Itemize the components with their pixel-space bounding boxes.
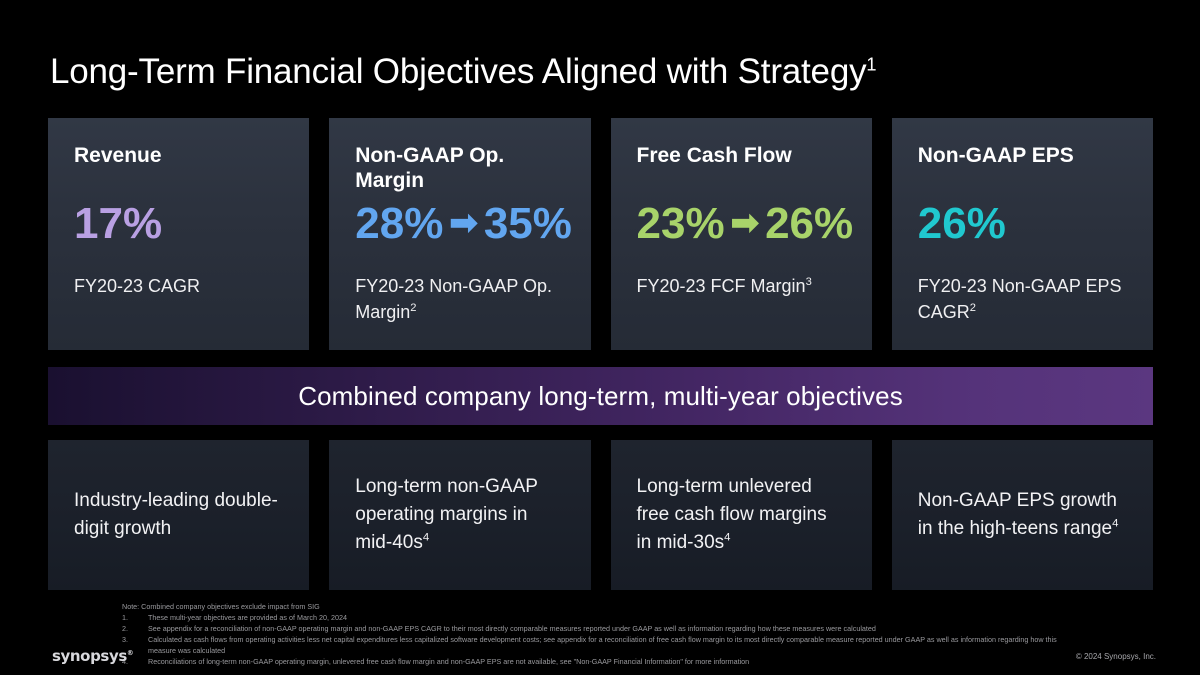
metric-card-value: 28% ➡ 35% (355, 202, 572, 246)
footnote-text: These multi-year objectives are provided… (148, 613, 1082, 624)
statement-card-growth: Industry-leading double-digit growth (48, 440, 309, 590)
metric-value-start: 17% (74, 202, 162, 246)
synopsys-logo: synopsys® (52, 647, 133, 665)
footnote-note: Note: Combined company objectives exclud… (122, 602, 1082, 613)
statement-text: Long-term non-GAAP operating margins in … (355, 473, 564, 556)
metric-card-value: 17% (74, 202, 162, 246)
footnote-item: 3. Calculated as cash flows from operati… (122, 635, 1082, 657)
statement-text: Long-term unlevered free cash flow margi… (637, 473, 846, 556)
page-title-text: Long-Term Financial Objectives Aligned w… (50, 52, 866, 91)
metric-card-heading: Revenue (74, 144, 283, 169)
footnote-text: See appendix for a reconciliation of non… (148, 624, 1082, 635)
synopsys-logo-text: synopsys (52, 647, 127, 665)
footnote-text: Reconciliations of long-term non-GAAP op… (148, 657, 1082, 668)
statement-text-body: Non-GAAP EPS growth in the high-teens ra… (918, 490, 1117, 539)
metric-card-value: 26% (918, 202, 1006, 246)
statement-card-eps-growth: Non-GAAP EPS growth in the high-teens ra… (892, 440, 1153, 590)
arrow-right-icon: ➡ (731, 206, 760, 240)
metric-card-row: Revenue 17% FY20-23 CAGR Non-GAAP Op. Ma… (48, 118, 1153, 350)
metric-sublabel-footnote-marker: 2 (970, 302, 976, 314)
metric-card-non-gaap-eps: Non-GAAP EPS 26% FY20-23 Non-GAAP EPS CA… (892, 118, 1153, 350)
statement-text: Industry-leading double-digit growth (74, 487, 283, 542)
statement-footnote-marker: 4 (724, 532, 730, 544)
metric-card-revenue: Revenue 17% FY20-23 CAGR (48, 118, 309, 350)
registered-mark-icon: ® (127, 649, 133, 657)
metric-sublabel-text: FY20-23 Non-GAAP EPS CAGR (918, 276, 1122, 322)
combined-objectives-banner: Combined company long-term, multi-year o… (48, 367, 1153, 425)
metric-card-heading: Non-GAAP Op. Margin (355, 144, 564, 194)
footnote-item: 4. Reconciliations of long-term non-GAAP… (122, 657, 1082, 668)
statement-text-body: Long-term unlevered free cash flow margi… (637, 476, 827, 552)
metric-value-end: 26% (765, 202, 853, 246)
metric-card-value: 23% ➡ 26% (637, 202, 854, 246)
metric-card-sublabel: FY20-23 FCF Margin3 (637, 274, 854, 300)
footnote-number: 2. (122, 624, 148, 635)
footnote-number: 1. (122, 613, 148, 624)
arrow-right-icon: ➡ (449, 206, 478, 240)
banner-text: Combined company long-term, multi-year o… (298, 381, 903, 412)
metric-card-sublabel: FY20-23 Non-GAAP EPS CAGR2 (918, 274, 1135, 325)
metric-card-heading: Non-GAAP EPS (918, 144, 1127, 169)
metric-sublabel-text: FY20-23 CAGR (74, 276, 200, 296)
statement-card-free-cash-flow: Long-term unlevered free cash flow margi… (611, 440, 872, 590)
metric-sublabel-footnote-marker: 3 (806, 276, 812, 288)
metric-sublabel-footnote-marker: 2 (410, 302, 416, 314)
metric-sublabel-text: FY20-23 Non-GAAP Op. Margin (355, 276, 552, 322)
metric-value-start: 23% (637, 202, 725, 246)
metric-card-sublabel: FY20-23 Non-GAAP Op. Margin2 (355, 274, 572, 325)
metric-card-heading: Free Cash Flow (637, 144, 846, 169)
footnote-item: 1. These multi-year objectives are provi… (122, 613, 1082, 624)
metric-card-sublabel: FY20-23 CAGR (74, 274, 291, 300)
metric-value-start: 28% (355, 202, 443, 246)
metric-card-non-gaap-op-margin: Non-GAAP Op. Margin 28% ➡ 35% FY20-23 No… (329, 118, 590, 350)
statement-footnote-marker: 4 (423, 532, 429, 544)
statement-card-operating-margin: Long-term non-GAAP operating margins in … (329, 440, 590, 590)
metric-sublabel-text: FY20-23 FCF Margin (637, 276, 806, 296)
statement-card-row: Industry-leading double-digit growth Lon… (48, 440, 1153, 590)
footnotes-block: Note: Combined company objectives exclud… (122, 602, 1082, 668)
metric-card-free-cash-flow: Free Cash Flow 23% ➡ 26% FY20-23 FCF Mar… (611, 118, 872, 350)
metric-value-start: 26% (918, 202, 1006, 246)
statement-footnote-marker: 4 (1112, 518, 1118, 530)
footnote-item: 2. See appendix for a reconciliation of … (122, 624, 1082, 635)
copyright-text: © 2024 Synopsys, Inc. (1076, 652, 1156, 661)
statement-text-body: Long-term non-GAAP operating margins in … (355, 476, 537, 552)
statement-text-body: Industry-leading double-digit growth (74, 490, 278, 539)
footnote-text: Calculated as cash flows from operating … (148, 635, 1082, 657)
page-title-footnote-marker: 1 (866, 54, 876, 74)
page-title: Long-Term Financial Objectives Aligned w… (50, 52, 876, 92)
metric-value-end: 35% (484, 202, 572, 246)
statement-text: Non-GAAP EPS growth in the high-teens ra… (918, 487, 1127, 542)
